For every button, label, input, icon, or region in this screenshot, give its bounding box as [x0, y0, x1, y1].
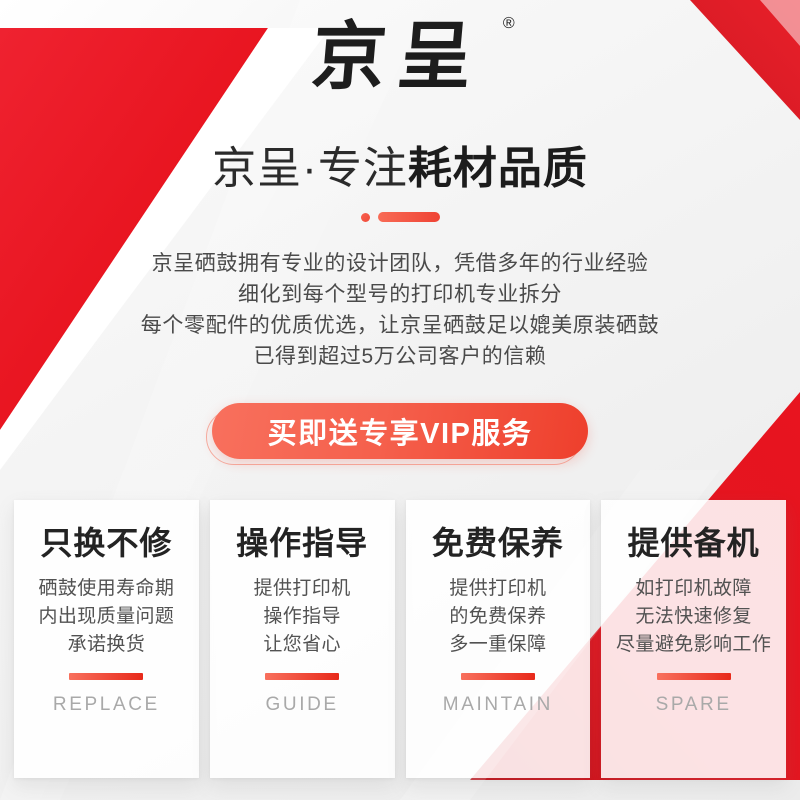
body-copy: 京呈硒鼓拥有专业的设计团队，凭借多年的行业经验 细化到每个型号的打印机专业拆分 …	[0, 248, 800, 372]
card-line: 的免费保养	[449, 603, 546, 631]
card-line: 硒鼓使用寿命期	[38, 575, 174, 603]
card-english-label: MAINTAIN	[443, 694, 553, 716]
registered-trademark-icon: ®	[503, 16, 515, 32]
accent-dot-icon	[361, 213, 370, 222]
vip-badge-pill[interactable]: 买即送专享VIP服务	[212, 403, 588, 459]
tagline-prefix: 京呈·专注	[212, 144, 408, 193]
card-line: 内出现质量问题	[38, 603, 174, 631]
card-english-label: SPARE	[656, 694, 732, 716]
card-line: 提供打印机	[254, 575, 351, 603]
card-line: 提供打印机	[449, 575, 546, 603]
card-description: 提供打印机 操作指导 让您省心	[254, 575, 351, 659]
card-description: 如打印机故障 无法快速修复 尽量避免影响工作	[616, 575, 771, 659]
card-english-label: REPLACE	[53, 694, 160, 716]
card-divider	[461, 673, 535, 680]
vip-badge-label: 买即送专享VIP服务	[268, 410, 533, 452]
brand-logo: 京呈 ®	[0, 20, 800, 94]
feature-card[interactable]: 只换不修 硒鼓使用寿命期 内出现质量问题 承诺换货 REPLACE	[14, 500, 199, 778]
feature-card[interactable]: 提供备机 如打印机故障 无法快速修复 尽量避免影响工作 SPARE	[601, 500, 786, 778]
body-copy-line: 每个零配件的优质优选，让京呈硒鼓足以媲美原装硒鼓	[0, 310, 800, 341]
vip-badge-wrap: 买即送专享VIP服务	[0, 403, 800, 459]
card-description: 硒鼓使用寿命期 内出现质量问题 承诺换货	[38, 575, 174, 659]
card-line: 操作指导	[254, 603, 351, 631]
card-line: 如打印机故障	[616, 575, 771, 603]
card-title: 只换不修	[40, 526, 172, 561]
body-copy-line: 已得到超过5万公司客户的信赖	[0, 341, 800, 372]
card-english-label: GUIDE	[266, 694, 339, 716]
card-divider	[265, 673, 339, 680]
card-line: 尽量避免影响工作	[616, 631, 771, 659]
vip-badge[interactable]: 买即送专享VIP服务	[212, 403, 588, 459]
logo-wordmark: 京呈 ®	[309, 20, 491, 94]
body-copy-line: 京呈硒鼓拥有专业的设计团队，凭借多年的行业经验	[0, 248, 800, 279]
tagline-emphasis: 耗材品质	[408, 144, 588, 193]
card-divider	[69, 673, 143, 680]
card-title: 提供备机	[628, 526, 760, 561]
feature-card[interactable]: 操作指导 提供打印机 操作指导 让您省心 GUIDE	[210, 500, 395, 778]
body-copy-line: 细化到每个型号的打印机专业拆分	[0, 279, 800, 310]
tagline: 京呈·专注耗材品质	[0, 143, 800, 195]
card-title: 操作指导	[236, 526, 368, 561]
accent-bar-icon	[378, 212, 440, 222]
card-description: 提供打印机 的免费保养 多一重保障	[449, 575, 546, 659]
card-line: 无法快速修复	[616, 603, 771, 631]
card-title: 免费保养	[432, 526, 564, 561]
card-line: 让您省心	[254, 631, 351, 659]
accent-divider	[0, 212, 800, 222]
logo-text: 京呈	[308, 14, 488, 100]
promo-banner: 京呈 ® 京呈·专注耗材品质 京呈硒鼓拥有专业的设计团队，凭借多年的行业经验 细…	[0, 0, 800, 800]
feature-card-grid: 只换不修 硒鼓使用寿命期 内出现质量问题 承诺换货 REPLACE 操作指导 提…	[14, 500, 786, 778]
card-divider	[657, 673, 731, 680]
card-line: 多一重保障	[449, 631, 546, 659]
card-line: 承诺换货	[38, 631, 174, 659]
feature-card[interactable]: 免费保养 提供打印机 的免费保养 多一重保障 MAINTAIN	[406, 500, 591, 778]
